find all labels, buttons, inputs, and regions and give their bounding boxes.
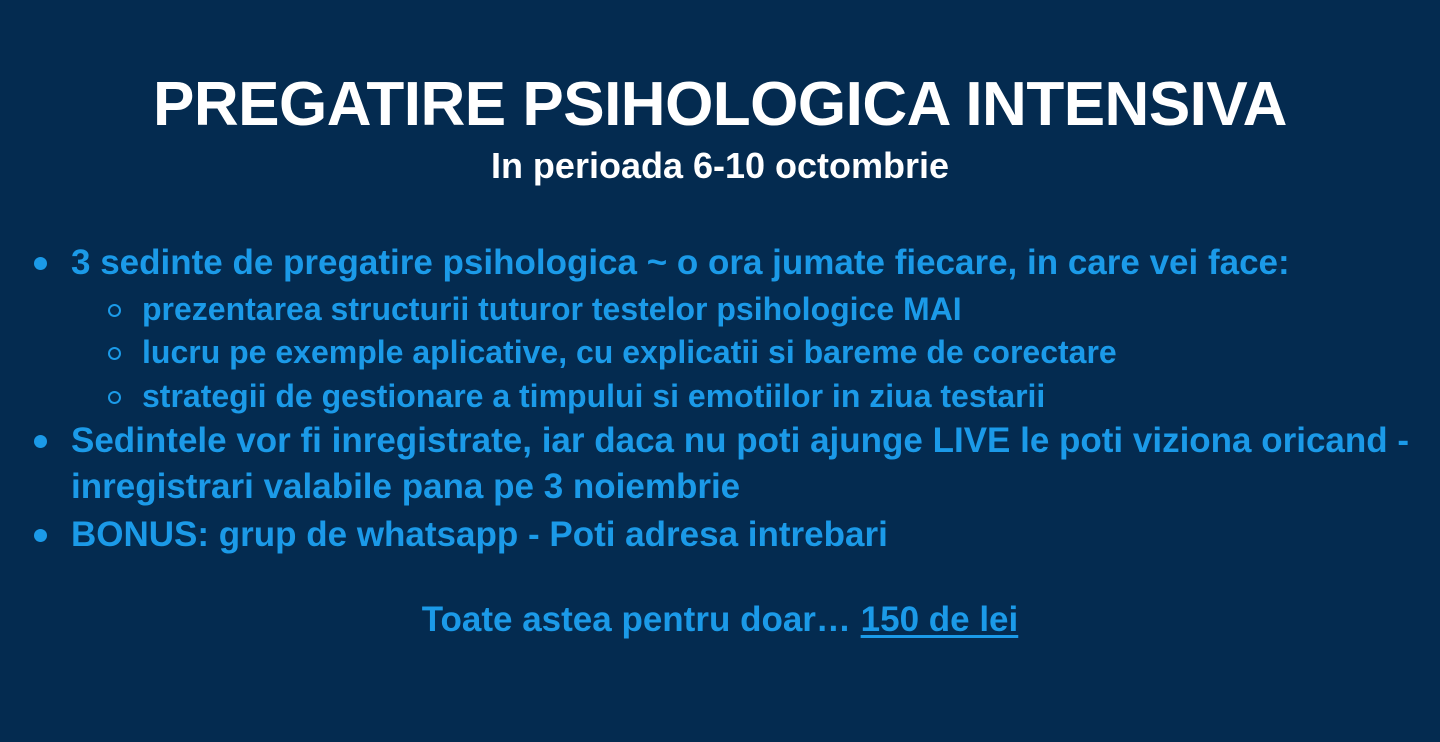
bullet-circle-icon (108, 304, 121, 317)
list-item: 3 sedinte de pregatire psihologica ~ o o… (0, 240, 1440, 286)
bullet-dot-icon (34, 257, 47, 270)
price-lead-text: Toate astea pentru doar… (422, 600, 861, 639)
list-item-label: BONUS: grup de whatsapp - Poti adresa in… (71, 512, 1440, 558)
list-item-label: lucru pe exemple aplicative, cu explicat… (142, 331, 1440, 373)
list-item-label: prezentarea structurii tuturor testelor … (142, 288, 1440, 330)
page-subtitle: In perioada 6-10 octombrie (0, 148, 1440, 184)
page-title: PREGATIRE PSIHOLOGICA INTENSIVA (0, 74, 1440, 136)
list-item: BONUS: grup de whatsapp - Poti adresa in… (0, 512, 1440, 558)
slide-header: PREGATIRE PSIHOLOGICA INTENSIVA In perio… (0, 0, 1440, 184)
price-value: 150 de lei (861, 600, 1019, 639)
bullet-circle-icon (108, 347, 121, 360)
bullet-dot-icon (34, 435, 47, 448)
price-line: Toate astea pentru doar… 150 de lei (0, 600, 1440, 640)
list-item: strategii de gestionare a timpului si em… (0, 375, 1440, 417)
list-item: prezentarea structurii tuturor testelor … (0, 288, 1440, 330)
list-item-label: 3 sedinte de pregatire psihologica ~ o o… (71, 240, 1440, 286)
list-item-label: Sedintele vor fi inregistrate, iar daca … (71, 418, 1440, 510)
list-item-label: strategii de gestionare a timpului si em… (142, 375, 1440, 417)
slide-root: PREGATIRE PSIHOLOGICA INTENSIVA In perio… (0, 0, 1440, 742)
list-item: Sedintele vor fi inregistrate, iar daca … (0, 418, 1440, 510)
list-item: lucru pe exemple aplicative, cu explicat… (0, 331, 1440, 373)
bullet-dot-icon (34, 529, 47, 542)
bullet-circle-icon (108, 391, 121, 404)
benefits-list: 3 sedinte de pregatire psihologica ~ o o… (0, 240, 1440, 558)
